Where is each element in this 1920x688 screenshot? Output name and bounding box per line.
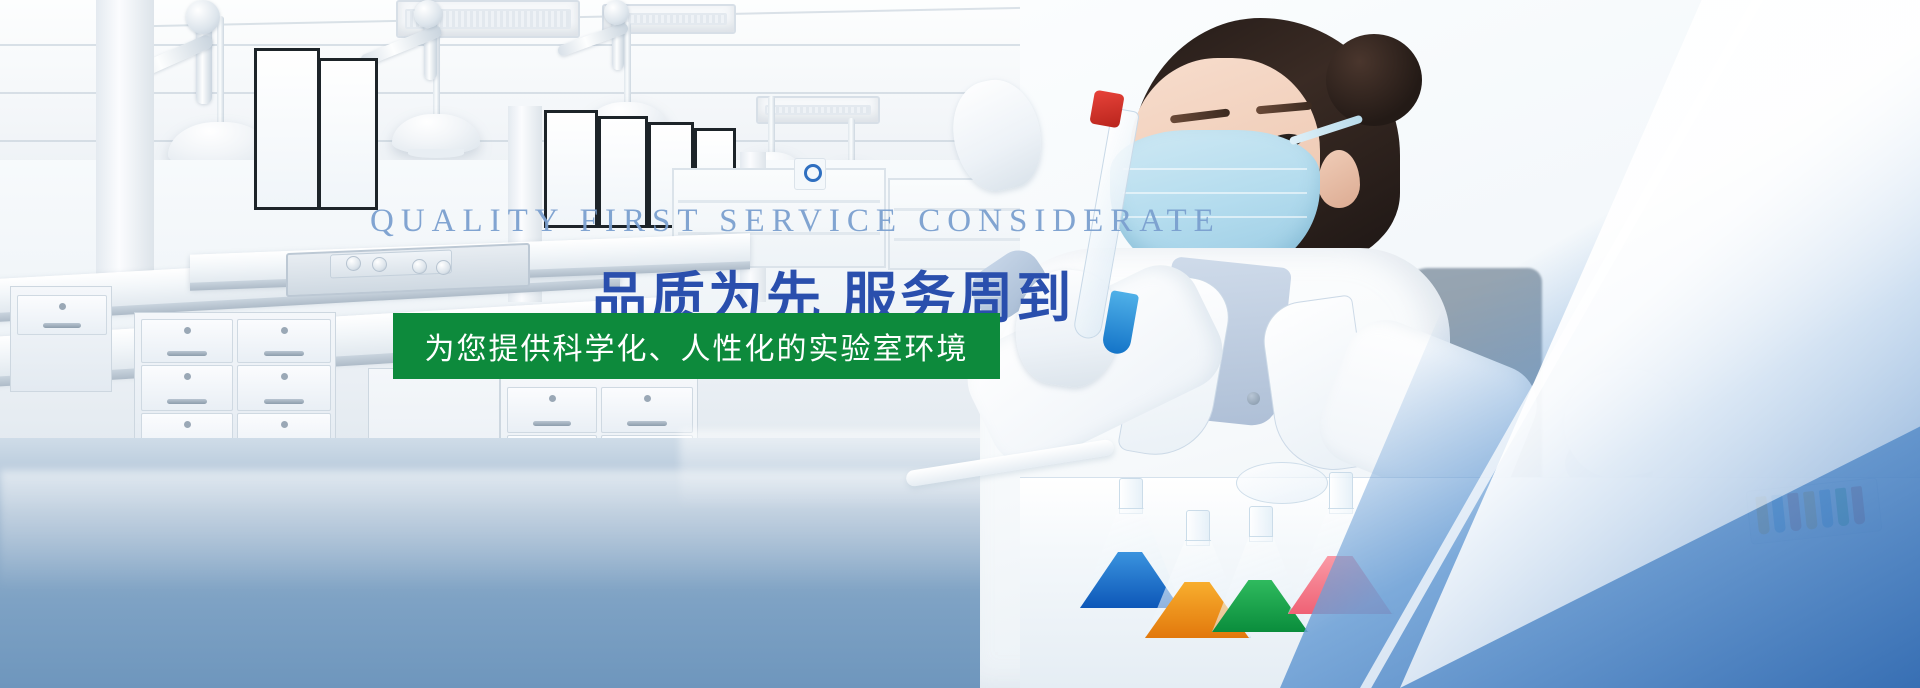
window: [598, 116, 648, 228]
wall-logo-icon: [794, 158, 826, 190]
ceiling-seam: [0, 92, 1100, 94]
fume-joint: [186, 0, 220, 34]
hair-bun: [1326, 34, 1422, 126]
coat-button: [1247, 392, 1260, 405]
fume-joint: [414, 0, 442, 28]
control-knob: [346, 256, 361, 271]
hero-banner: QUALITY FIRST SERVICE CONSIDERATE 品质为先 服…: [0, 0, 1920, 688]
window: [544, 110, 598, 228]
window: [254, 48, 320, 210]
control-knob: [372, 257, 387, 272]
pillar: [96, 0, 154, 300]
petri-dish: [1236, 462, 1328, 504]
control-knob: [412, 259, 427, 274]
bench-cabinet: [10, 286, 112, 392]
window: [318, 58, 378, 210]
fume-joint: [604, 0, 629, 25]
test-tube-cap: [1089, 90, 1124, 129]
control-knob: [436, 260, 451, 275]
